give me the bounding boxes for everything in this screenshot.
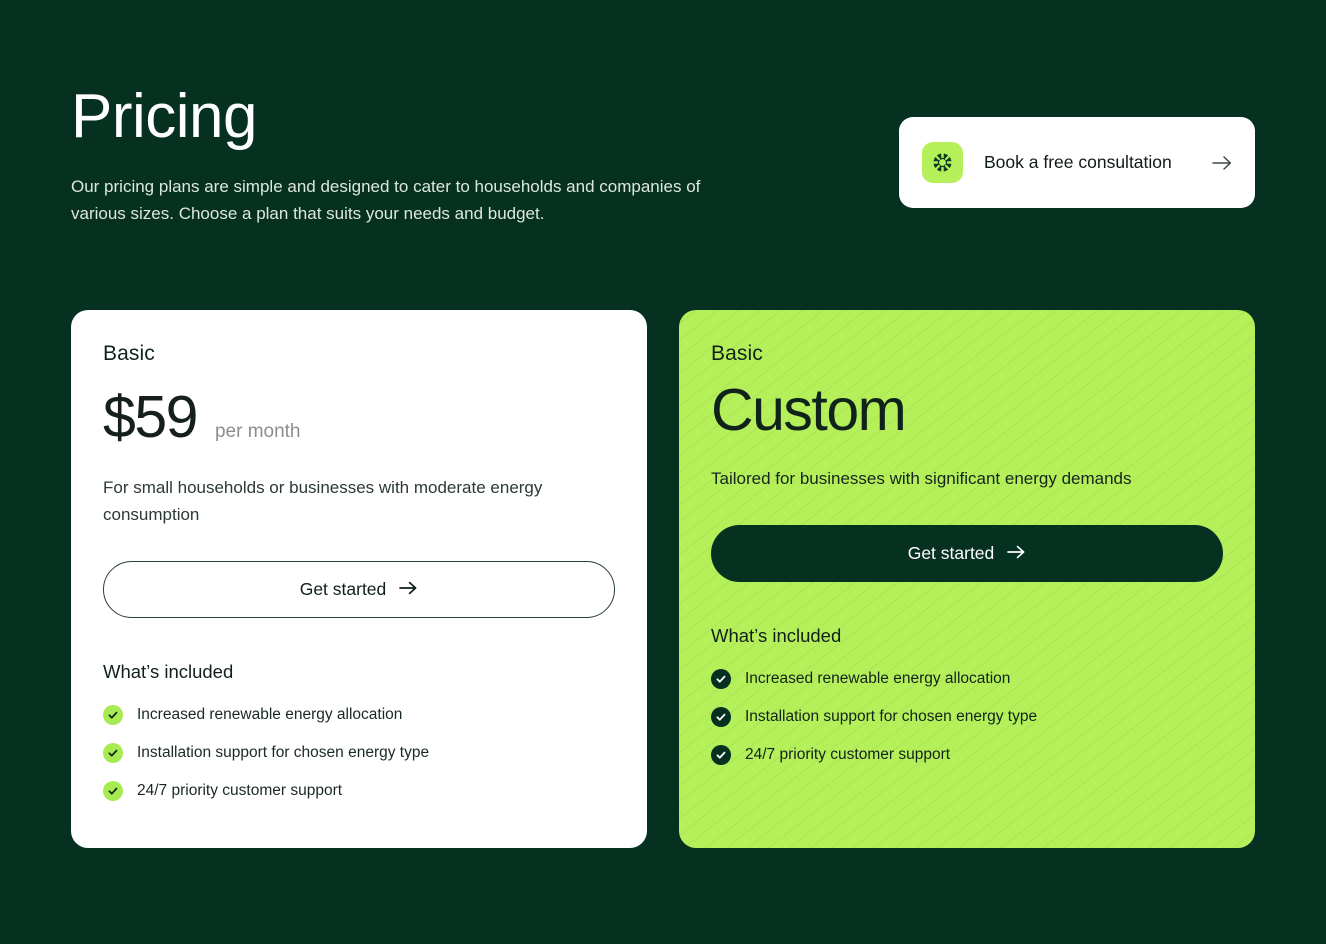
pricing-card-custom: Basic Custom Tailored for businesses wit… [679, 310, 1255, 848]
list-item: Installation support for chosen energy t… [711, 707, 1224, 727]
check-icon [103, 743, 123, 763]
header-text-block: Pricing Our pricing plans are simple and… [71, 84, 771, 227]
feature-label: 24/7 priority customer support [745, 746, 950, 764]
get-started-label: Get started [300, 579, 387, 600]
page-title: Pricing [71, 84, 771, 149]
price-row: $59 per month [103, 388, 616, 450]
pricing-page: Pricing Our pricing plans are simple and… [0, 0, 1326, 944]
feature-list-basic: Increased renewable energy allocation In… [103, 705, 616, 801]
feature-list-custom: Increased renewable energy allocation In… [711, 669, 1224, 765]
list-item: 24/7 priority customer support [711, 745, 1224, 765]
list-item: Increased renewable energy allocation [711, 669, 1224, 689]
plan-description: Tailored for businesses with significant… [711, 465, 1211, 492]
book-consultation-button[interactable]: Book a free consultation [899, 117, 1255, 208]
feature-label: Increased renewable energy allocation [137, 706, 402, 724]
check-icon [103, 781, 123, 801]
plan-description: For small households or businesses with … [103, 474, 603, 528]
check-icon [711, 669, 731, 689]
arrow-right-icon [1007, 543, 1026, 564]
get-started-label: Get started [908, 543, 995, 564]
list-item: Installation support for chosen energy t… [103, 743, 616, 763]
plan-name: Basic [711, 342, 1224, 366]
list-item: 24/7 priority customer support [103, 781, 616, 801]
check-icon [711, 707, 731, 727]
page-header: Pricing Our pricing plans are simple and… [71, 84, 1255, 227]
get-started-button-custom[interactable]: Get started [711, 525, 1223, 582]
plan-name: Basic [103, 342, 616, 366]
plan-price-word: Custom [711, 380, 1224, 442]
lifebuoy-icon [922, 142, 963, 183]
list-item: Increased renewable energy allocation [103, 705, 616, 725]
feature-label: Installation support for chosen energy t… [137, 744, 429, 762]
feature-label: 24/7 priority customer support [137, 782, 342, 800]
pricing-cards: Basic $59 per month For small households… [71, 310, 1255, 848]
included-title: What’s included [711, 625, 1224, 647]
page-description: Our pricing plans are simple and designe… [71, 173, 751, 227]
feature-label: Installation support for chosen energy t… [745, 708, 1037, 726]
check-icon [711, 745, 731, 765]
book-consultation-label: Book a free consultation [984, 152, 1190, 173]
plan-period: per month [215, 421, 301, 443]
included-title: What’s included [103, 661, 616, 683]
feature-label: Increased renewable energy allocation [745, 670, 1010, 688]
pricing-card-basic: Basic $59 per month For small households… [71, 310, 647, 848]
get-started-button-basic[interactable]: Get started [103, 561, 615, 618]
plan-price: $59 [103, 388, 197, 447]
arrow-right-icon [399, 579, 418, 600]
check-icon [103, 705, 123, 725]
arrow-right-icon [1211, 152, 1233, 174]
